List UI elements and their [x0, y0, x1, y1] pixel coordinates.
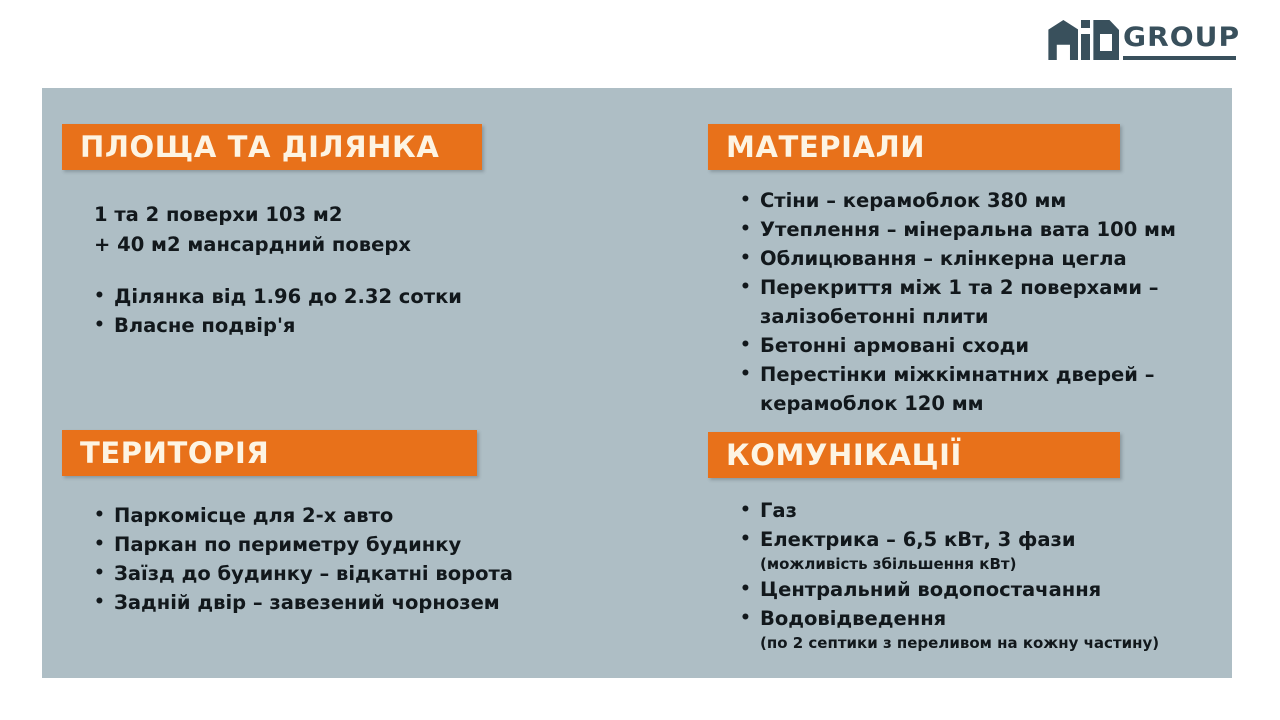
territory-bullet-list: Паркомісце для 2-х авто Паркан по периме… — [62, 501, 477, 617]
list-item-note: (можливість збільшення кВт) — [760, 554, 1120, 575]
logo-underline — [1123, 56, 1236, 60]
section-communications-header: КОМУНІКАЦІЇ — [708, 432, 1120, 478]
list-item-text: Газ — [760, 499, 797, 522]
list-item: Перестінки міжкімнатних дверей – — [708, 360, 1120, 389]
list-item: Паркомісце для 2-х авто — [62, 501, 477, 530]
logo-letter-a-icon — [1048, 20, 1078, 60]
section-territory-title: ТЕРИТОРІЯ — [62, 436, 269, 470]
list-item: Газ — [708, 496, 1120, 525]
section-territory: ТЕРИТОРІЯ Паркомісце для 2-х авто Паркан… — [62, 430, 477, 617]
aid-monogram-icon — [1048, 20, 1119, 60]
section-area-body: 1 та 2 поверхи 103 м2 + 40 м2 мансардний… — [62, 170, 482, 340]
section-territory-header: ТЕРИТОРІЯ — [62, 430, 477, 476]
list-item-note: (по 2 септики з переливом на кожну части… — [760, 633, 1120, 654]
list-item: Електрика – 6,5 кВт, 3 фази (можливість … — [708, 525, 1120, 575]
section-communications: КОМУНІКАЦІЇ Газ Електрика – 6,5 кВт, 3 ф… — [708, 432, 1120, 654]
list-item-continuation: залізобетонні плити — [708, 302, 1120, 331]
section-area: ПЛОЩА ТА ДІЛЯНКА 1 та 2 поверхи 103 м2 +… — [62, 124, 482, 340]
logo-wordmark: GROUP — [1123, 23, 1236, 60]
list-item: Утеплення – мінеральна вата 100 мм — [708, 215, 1120, 244]
list-item: Облицювання – клінкерна цегла — [708, 244, 1120, 273]
brand-logo: GROUP — [1048, 14, 1236, 60]
section-communications-body: Газ Електрика – 6,5 кВт, 3 фази (можливі… — [708, 478, 1120, 654]
list-item: Ділянка від 1.96 до 2.32 сотки — [62, 282, 482, 311]
list-item-text: Водовідведення — [760, 607, 946, 630]
section-area-header: ПЛОЩА ТА ДІЛЯНКА — [62, 124, 482, 170]
list-item: Бетонні армовані сходи — [708, 331, 1120, 360]
list-item-text: Електрика – 6,5 кВт, 3 фази — [760, 528, 1076, 551]
logo-letter-i-icon — [1081, 20, 1090, 60]
list-item: Заїзд до будинку – відкатні ворота — [62, 559, 477, 588]
list-item: Центральний водопостачання — [708, 575, 1120, 604]
list-item: Власне подвір'я — [62, 311, 482, 340]
list-item-continuation: керамоблок 120 мм — [708, 389, 1120, 418]
list-item: Паркан по периметру будинку — [62, 530, 477, 559]
area-line-2: + 40 м2 мансардний поверх — [62, 230, 482, 260]
section-territory-body: Паркомісце для 2-х авто Паркан по периме… — [62, 476, 477, 617]
section-materials: МАТЕРІАЛИ Стіни – керамоблок 380 мм Утеп… — [708, 124, 1120, 418]
list-item: Задній двір – завезений чорнозем — [62, 588, 477, 617]
logo-letter-d-icon — [1093, 20, 1119, 60]
list-item: Водовідведення (по 2 септики з переливом… — [708, 604, 1120, 654]
section-materials-header: МАТЕРІАЛИ — [708, 124, 1120, 170]
area-line-1: 1 та 2 поверхи 103 м2 — [62, 200, 482, 230]
list-item-text: Центральний водопостачання — [760, 578, 1101, 601]
communications-list: Газ Електрика – 6,5 кВт, 3 фази (можливі… — [708, 496, 1120, 654]
spec-panel: ПЛОЩА ТА ДІЛЯНКА 1 та 2 поверхи 103 м2 +… — [42, 88, 1232, 678]
section-materials-title: МАТЕРІАЛИ — [708, 130, 925, 164]
section-area-title: ПЛОЩА ТА ДІЛЯНКА — [62, 130, 439, 164]
list-item: Стіни – керамоблок 380 мм — [708, 186, 1120, 215]
area-bullet-list: Ділянка від 1.96 до 2.32 сотки Власне по… — [62, 282, 482, 340]
materials-bullet-list: Стіни – керамоблок 380 мм Утеплення – мі… — [708, 186, 1120, 418]
list-item: Перекриття між 1 та 2 поверхами – — [708, 273, 1120, 302]
logo-wordmark-text: GROUP — [1123, 23, 1240, 53]
section-communications-title: КОМУНІКАЦІЇ — [708, 438, 962, 472]
section-materials-body: Стіни – керамоблок 380 мм Утеплення – мі… — [708, 170, 1120, 418]
